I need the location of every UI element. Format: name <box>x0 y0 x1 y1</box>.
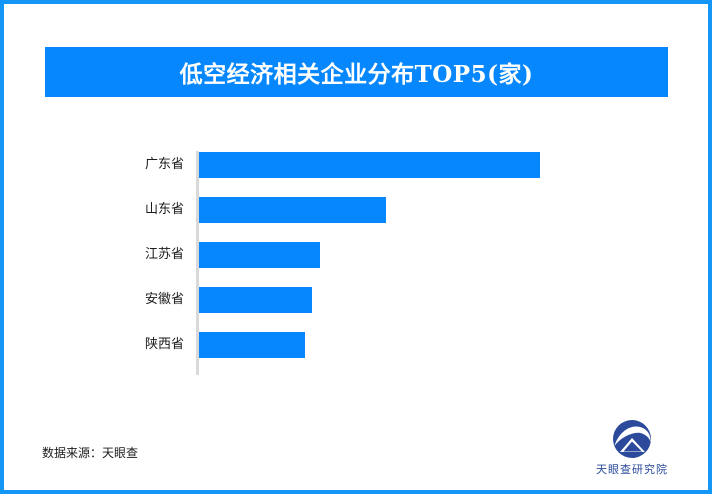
brand-logo: 天眼查研究院 <box>584 419 680 481</box>
bar-segment <box>199 287 312 313</box>
bar-category-label: 广东省 <box>104 152 184 178</box>
brand-name-label: 天眼查研究院 <box>596 461 668 477</box>
bar-chart: 广东省 山东省 江苏省 安徽省 陕西省 <box>4 134 712 384</box>
bar-row: 陕西省 <box>4 332 712 358</box>
bar-row: 江苏省 <box>4 242 712 268</box>
bar-category-label: 陕西省 <box>104 332 184 358</box>
page-title: 低空经济相关企业分布TOP5(家) <box>180 55 534 89</box>
bar-row: 山东省 <box>4 197 712 223</box>
chart-title-banner: 低空经济相关企业分布TOP5(家) <box>45 47 668 97</box>
bar-segment <box>199 152 540 178</box>
bar-category-label: 江苏省 <box>104 242 184 268</box>
data-source-note: 数据来源：天眼查 <box>42 444 138 461</box>
bar-category-label: 安徽省 <box>104 287 184 313</box>
tianyancha-eye-logo-icon <box>609 419 655 459</box>
bar-category-label: 山东省 <box>104 197 184 223</box>
bar-row: 广东省 <box>4 152 712 178</box>
bar-row: 安徽省 <box>4 287 712 313</box>
bar-segment <box>199 332 305 358</box>
infographic-page: 低空经济相关企业分布TOP5(家) 广东省 山东省 江苏省 安徽省 陕西省 数据… <box>0 0 712 494</box>
bar-segment <box>199 197 386 223</box>
bar-segment <box>199 242 320 268</box>
